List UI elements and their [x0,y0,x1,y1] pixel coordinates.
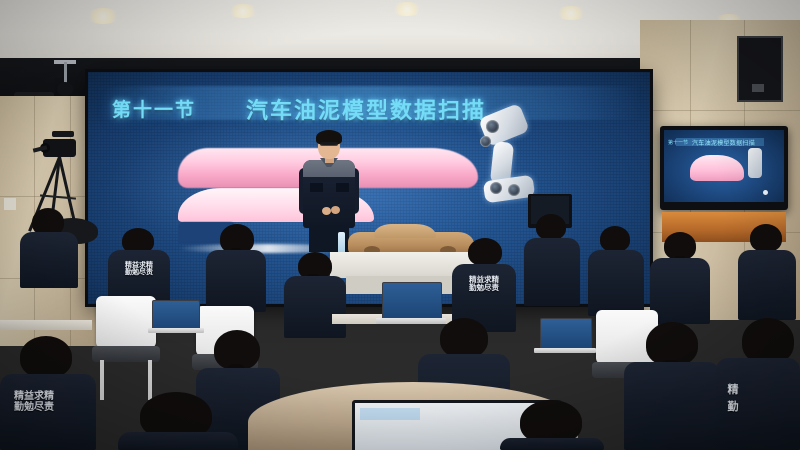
side-monitor-heading: 汽车油泥模型数据扫描 [692,138,755,147]
student [524,214,580,306]
ceiling-downlight [228,4,258,18]
student [118,392,238,450]
tshirt-slogan: 精益求精勤勉尽责 [116,262,162,277]
side-monitor-indicator [763,190,768,195]
student [20,208,78,288]
classroom-scene: 第十一节 汽车油泥模型数据扫描 第十一节 汽车油泥模型数据扫描 [0,0,800,450]
student [650,232,710,324]
student [624,322,720,450]
presenter-chest-pocket [310,183,323,192]
presenter-hand [322,207,331,215]
wall-socket [4,198,16,210]
side-monitor-scanner-render [748,148,762,178]
tshirt-slogan: 精益求精勤勉尽责 [460,276,508,292]
student [588,226,644,316]
water-bottle [338,232,345,254]
chair-back [96,296,156,348]
panel-seam [640,110,800,111]
camera-handle [52,131,74,137]
ceiling-downlight [86,8,120,24]
laptop-screen[interactable] [382,282,442,322]
wall-speaker [737,36,783,102]
speaker-badge [752,84,764,92]
ceiling-downlight [556,6,586,20]
ceiling-mount-rod [64,62,67,84]
presenter-chest-pocket [336,183,349,192]
presenter-hand [331,206,340,214]
glasses-icon [320,142,338,146]
student: 精勤 [716,318,800,450]
slide-chapter-label: 第十一节 [112,95,196,122]
slide-heading: 汽车油泥模型数据扫描 [246,93,486,125]
foreground-laptop-content [360,408,420,420]
ceiling-camera-icon [57,82,73,96]
side-monitor-chapter-label: 第十一节 [668,139,688,146]
student: 精益求精勤勉尽责 [0,336,96,450]
chair-leg [100,360,104,400]
laptop-screen[interactable] [540,318,592,352]
tshirt-slogan: 精益求精勤勉尽责 [2,392,66,413]
tshirt-slogan: 精勤 [722,382,744,415]
student [284,252,346,338]
laptop-base [534,348,596,353]
student [738,224,796,320]
ceiling-downlight [392,2,422,16]
desk [0,320,92,330]
student [206,224,266,312]
student [500,400,604,450]
